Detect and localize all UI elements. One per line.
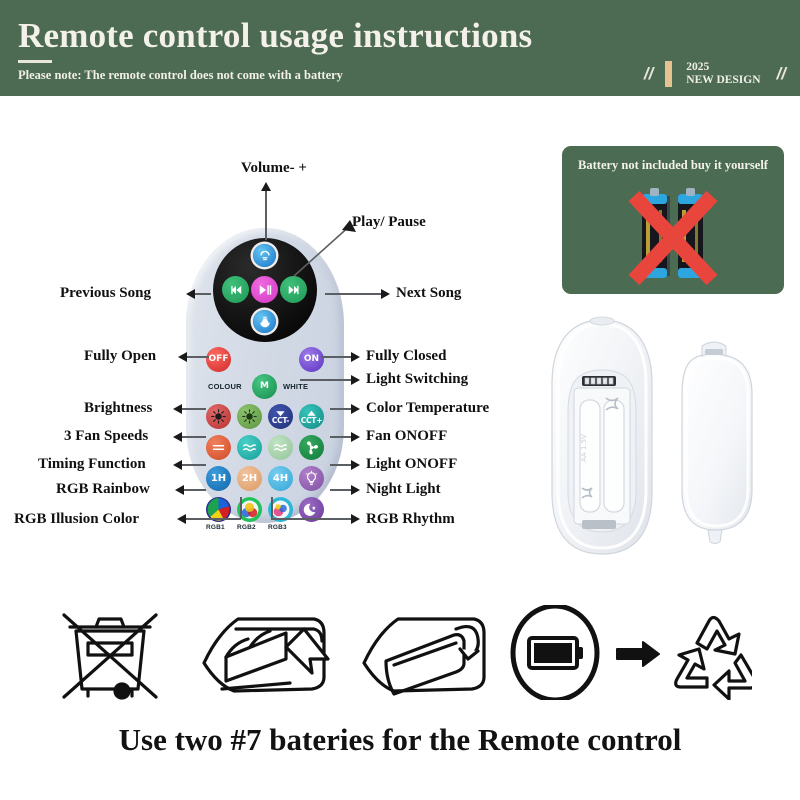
- leader-light-onoff: [330, 464, 351, 466]
- battery-insert-step1-icon: [204, 619, 328, 691]
- bottom-icon-strip: [52, 605, 752, 700]
- badge-subtitle: NEW DESIGN: [686, 74, 760, 87]
- leader-rgb-illusion-h: [186, 518, 241, 520]
- leader-brightness: [182, 408, 206, 410]
- callout-light-onoff: Light ONOFF: [366, 456, 457, 473]
- header-note: Please note: The remote control does not…: [18, 68, 343, 83]
- battery-contact-bottom: [582, 520, 616, 529]
- arrow-previous-song-icon: [186, 289, 195, 299]
- arrow-rgb-rainbow-icon: [175, 485, 184, 495]
- arrow-rgb-illusion-icon: [177, 514, 186, 524]
- remote-back-shell: AA 1.5V: [552, 317, 652, 554]
- battery-oval-icon: [513, 606, 597, 700]
- previous-track-icon: [229, 283, 243, 297]
- leader-next-song: [325, 293, 381, 295]
- callout-rgb-rhythm: RGB Rhythm: [366, 511, 455, 528]
- light-onoff-button[interactable]: [299, 466, 324, 491]
- mode-label: M: [260, 382, 269, 391]
- light-switching-mode-button[interactable]: M: [252, 374, 277, 399]
- rgb3-label: RGB3: [268, 524, 287, 531]
- battery-not-included-panel: Battery not included buy it yourself: [562, 146, 784, 294]
- infographic-page: Remote control usage instructions Please…: [0, 0, 800, 800]
- fan-speed-3-button[interactable]: [268, 435, 293, 460]
- arrow-fan-onoff-icon: [351, 432, 360, 442]
- arrow-next-song-icon: [381, 289, 390, 299]
- callout-fan-onoff: Fan ONOFF: [366, 428, 447, 445]
- moon-star-icon: [303, 501, 320, 518]
- leader-rgb-illusion-v: [240, 497, 242, 519]
- fan-icon: [303, 439, 320, 456]
- timer-4h-button[interactable]: 4H: [268, 466, 293, 491]
- battery-panel-title: Battery not included buy it yourself: [562, 158, 784, 173]
- fully-closed-on-button[interactable]: ON: [299, 347, 324, 372]
- callout-timing-function: Timing Function: [38, 456, 146, 473]
- callout-previous-song: Previous Song: [60, 285, 151, 302]
- badge-accent-bar: [665, 61, 672, 87]
- leader-volume: [265, 190, 267, 240]
- svg-text:AA 1.5V: AA 1.5V: [580, 434, 588, 462]
- off-label: OFF: [209, 355, 229, 364]
- cct-minus-label: CCT-: [272, 417, 289, 425]
- leader-rgb-rhythm-v: [271, 497, 273, 519]
- volume-down-button[interactable]: [253, 310, 276, 333]
- leader-previous-song: [195, 293, 211, 295]
- arrow-fully-open-icon: [178, 352, 187, 362]
- no-trash-bin-icon: [64, 615, 156, 698]
- fan-onoff-button[interactable]: [299, 435, 324, 460]
- badge-slash-right-icon: //: [777, 64, 786, 84]
- leader-timing-function: [182, 464, 206, 466]
- brightness-up-button[interactable]: [237, 404, 262, 429]
- volume-up-icon: [258, 249, 272, 263]
- fully-open-off-button[interactable]: OFF: [206, 347, 231, 372]
- fan-speed-2-icon: [241, 439, 258, 456]
- callout-color-temperature: Color Temperature: [366, 400, 489, 417]
- leader-rgb-rhythm-h: [271, 518, 351, 520]
- callout-rgb-rainbow: RGB Rainbow: [56, 481, 150, 498]
- header-banner: Remote control usage instructions Please…: [0, 0, 800, 96]
- badge-text: 2025 NEW DESIGN: [686, 61, 760, 87]
- arrow-volume-icon: [261, 182, 271, 191]
- recycle-icon: [676, 618, 752, 700]
- previous-track-button[interactable]: [222, 276, 249, 303]
- next-track-button[interactable]: [280, 276, 307, 303]
- callout-volume: Volume- +: [241, 160, 307, 177]
- timer-1h-label: 1H: [211, 474, 226, 484]
- brightness-down-button[interactable]: [206, 404, 231, 429]
- arrow-right-icon: [617, 642, 659, 666]
- arrow-timing-function-icon: [173, 460, 182, 470]
- light-bulb-icon: [303, 470, 320, 487]
- arrow-fully-closed-icon: [351, 352, 360, 362]
- brightness-up-icon: [241, 408, 258, 425]
- leader-night-light: [330, 489, 351, 491]
- arrow-color-temperature-icon: [351, 404, 360, 414]
- fan-speed-2-button[interactable]: [237, 435, 262, 460]
- rgb1-label: RGB1: [206, 524, 225, 531]
- volume-down-icon: [258, 315, 272, 329]
- timer-1h-button[interactable]: 1H: [206, 466, 231, 491]
- timer-2h-button[interactable]: 2H: [237, 466, 262, 491]
- volume-up-button[interactable]: [253, 244, 276, 267]
- batteries-crossed-graphic: [562, 180, 784, 292]
- callout-next-song: Next Song: [396, 285, 461, 302]
- leader-fully-closed: [321, 356, 351, 358]
- leader-color-temperature: [330, 408, 351, 410]
- leader-rgb-rainbow: [184, 489, 206, 491]
- badge-slash-left-icon: //: [644, 64, 653, 84]
- leader-play-pause: [280, 218, 356, 280]
- page-title: Remote control usage instructions: [18, 16, 532, 56]
- fan-speed-3-icon: [272, 439, 289, 456]
- play-pause-button[interactable]: [251, 276, 278, 303]
- timer-2h-label: 2H: [242, 474, 257, 484]
- callout-fan-speeds: 3 Fan Speeds: [64, 428, 148, 445]
- rgb2-label: RGB2: [237, 524, 256, 531]
- cct-plus-button[interactable]: CCT+: [299, 404, 324, 429]
- callout-fully-open: Fully Open: [84, 348, 156, 365]
- callout-night-light: Night Light: [366, 481, 441, 498]
- remote-back-and-cover-graphic: AA 1.5V: [540, 312, 790, 564]
- fan-speed-1-icon: [210, 439, 227, 456]
- leader-fan-speeds: [182, 436, 206, 438]
- cct-minus-button[interactable]: CCT-: [268, 404, 293, 429]
- callout-play-pause: Play/ Pause: [352, 214, 426, 231]
- arrow-brightness-icon: [173, 404, 182, 414]
- footer-text: Use two #7 bateries for the Remote contr…: [0, 722, 800, 758]
- title-underline: [18, 60, 52, 63]
- arrow-night-light-icon: [351, 485, 360, 495]
- badge-year: 2025: [686, 61, 760, 74]
- arrow-light-onoff-icon: [351, 460, 360, 470]
- leader-light-switching: [300, 379, 351, 381]
- leader-fully-open: [187, 356, 209, 358]
- colour-label: COLOUR: [208, 382, 242, 391]
- brightness-down-icon: [210, 408, 227, 425]
- play-pause-icon: [258, 283, 272, 297]
- new-design-badge: // 2025 NEW DESIGN //: [644, 58, 786, 90]
- fan-speed-1-button[interactable]: [206, 435, 231, 460]
- arrow-fan-speeds-icon: [173, 432, 182, 442]
- callout-fully-closed: Fully Closed: [366, 348, 446, 365]
- leader-fan-onoff: [330, 436, 351, 438]
- battery-cover: [682, 342, 752, 544]
- callout-rgb-illusion: RGB Illusion Color: [14, 511, 139, 528]
- battery-insert-step2-icon: [364, 619, 484, 694]
- callout-brightness: Brightness: [84, 400, 152, 417]
- timer-4h-label: 4H: [273, 474, 288, 484]
- next-track-icon: [287, 283, 301, 297]
- white-label: WHITE: [283, 382, 308, 391]
- arrow-rgb-rhythm-icon: [351, 514, 360, 524]
- cct-plus-label: CCT+: [301, 417, 323, 425]
- on-label: ON: [304, 355, 319, 364]
- arrow-light-switching-icon: [351, 375, 360, 385]
- callout-light-switching: Light Switching: [366, 371, 468, 388]
